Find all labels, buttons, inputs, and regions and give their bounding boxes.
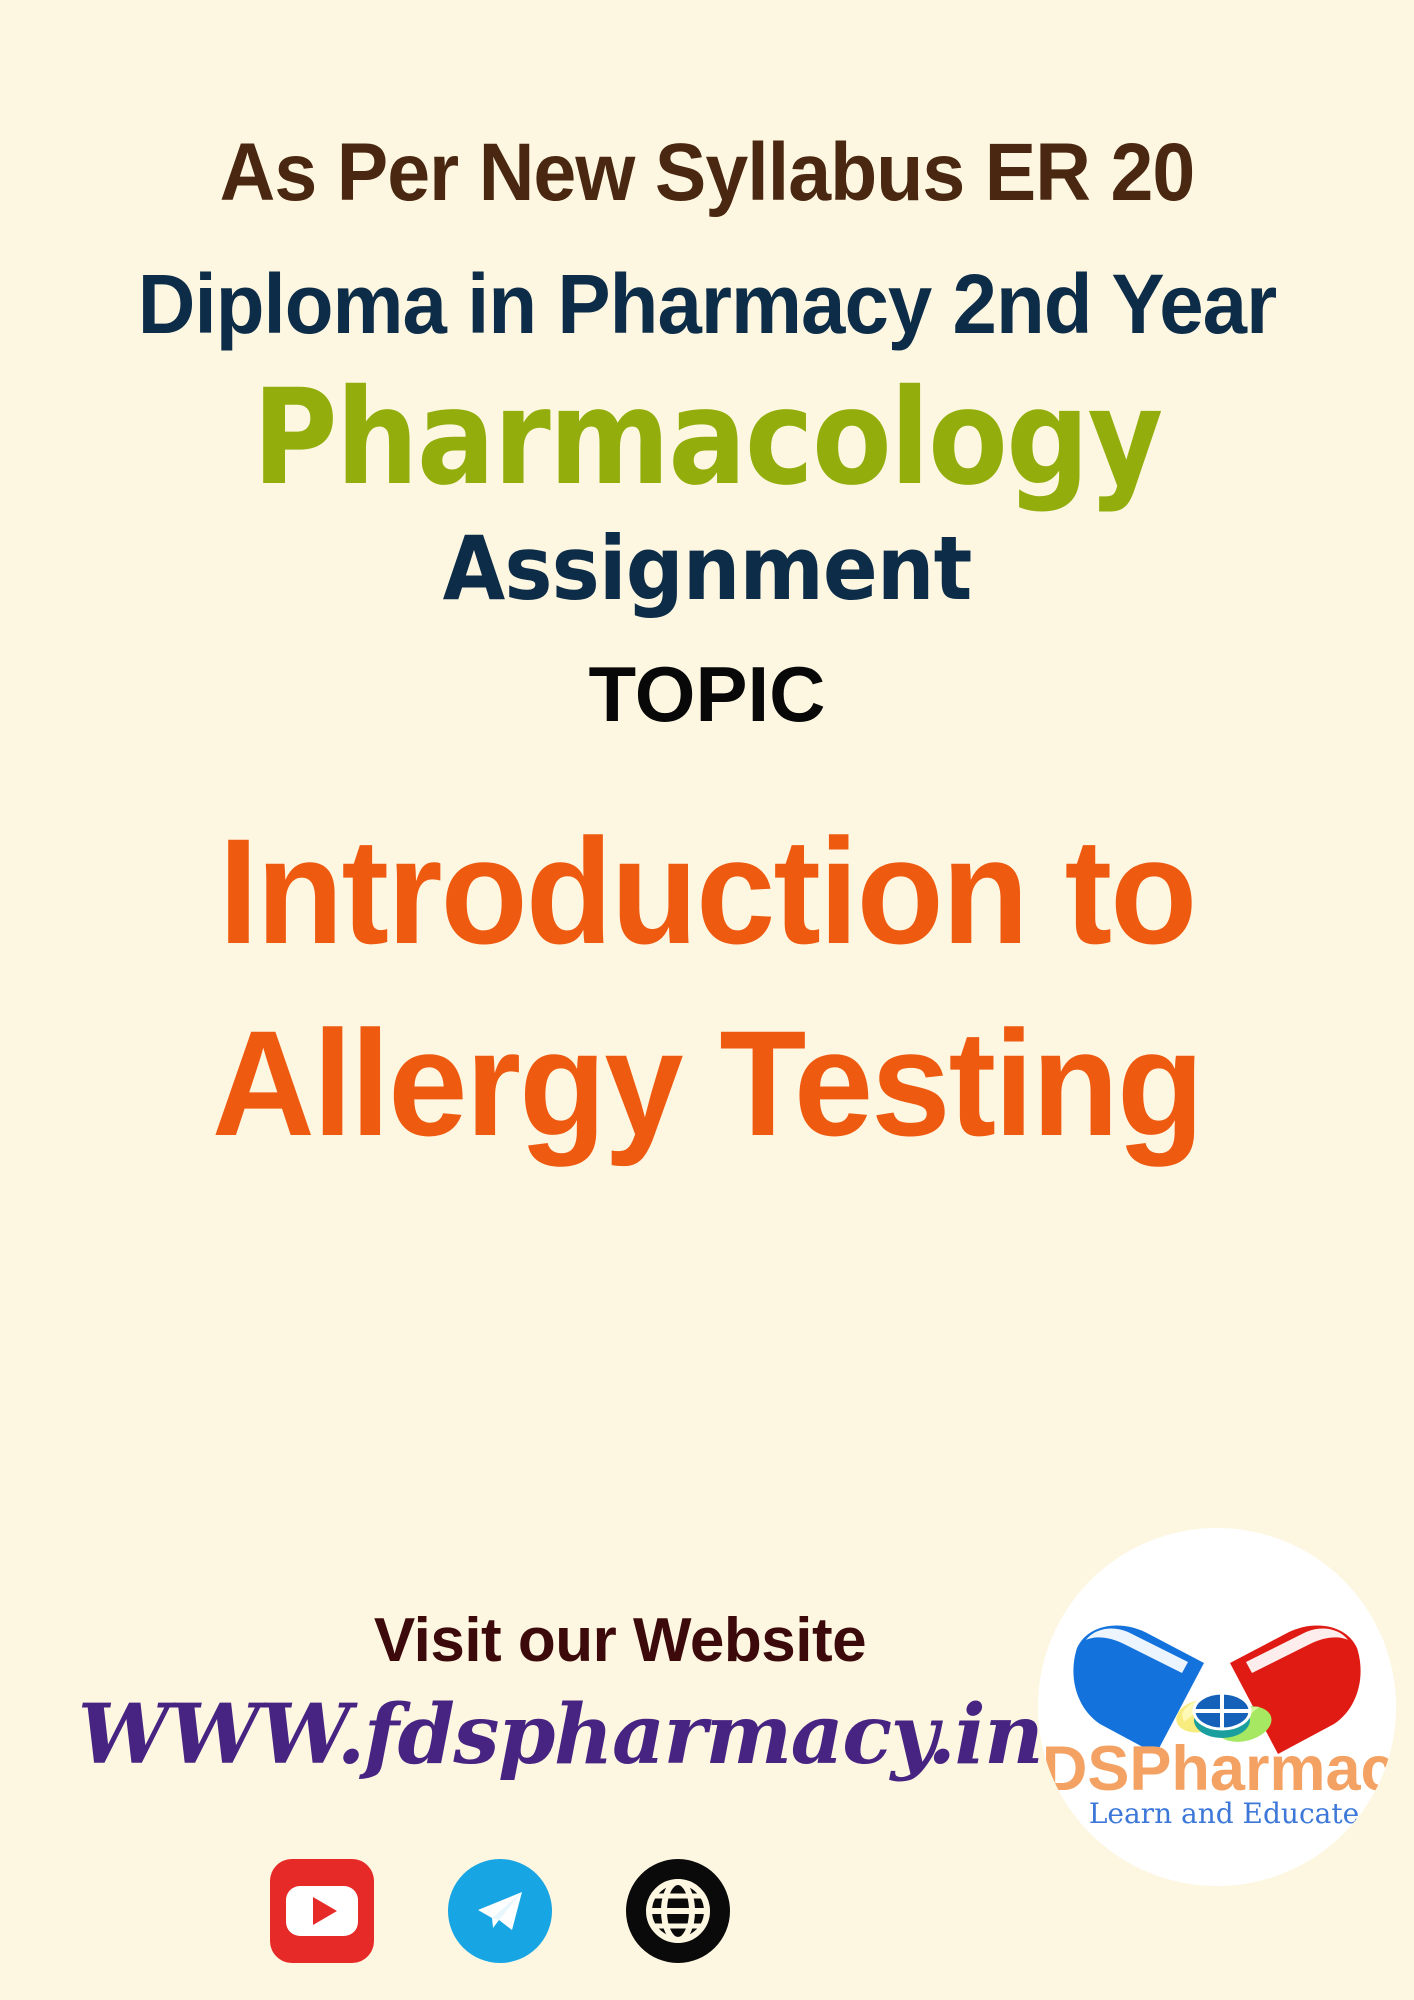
social-links-row xyxy=(0,1858,1000,1964)
youtube-icon[interactable] xyxy=(270,1859,374,1963)
course-line: Diploma in Pharmacy 2nd Year xyxy=(35,262,1378,346)
play-triangle-icon xyxy=(313,1897,337,1925)
subject-title: Pharmacology xyxy=(85,372,1329,504)
visit-website-text: Visit our Website xyxy=(300,1610,940,1672)
poster-canvas: As Per New Syllabus ER 20 Diploma in Pha… xyxy=(0,0,1414,2000)
logo-brand-name: FDSPharmacy xyxy=(1038,1734,1396,1804)
main-title-line-1: Introduction to xyxy=(35,795,1378,987)
main-title-line-2: Allergy Testing xyxy=(35,987,1378,1179)
youtube-link[interactable] xyxy=(269,1858,375,1964)
main-title: Introduction to Allergy Testing xyxy=(35,795,1378,1179)
fdspharmacy-logo: FDSPharmacy Learn and Educate xyxy=(1038,1528,1396,1886)
youtube-icon-body xyxy=(286,1886,358,1936)
logo-tagline: Learn and Educate xyxy=(1089,1797,1359,1830)
globe-icon[interactable] xyxy=(626,1859,730,1963)
website-url[interactable]: WWW.fdspharmacy.in xyxy=(60,1694,1060,1776)
globe-glyph-icon xyxy=(641,1874,715,1948)
website-link[interactable] xyxy=(625,1858,731,1964)
paper-plane-icon xyxy=(469,1880,531,1942)
topic-label: TOPIC xyxy=(0,655,1414,733)
syllabus-line: As Per New Syllabus ER 20 xyxy=(42,132,1371,214)
document-type: Assignment xyxy=(57,525,1358,613)
telegram-link[interactable] xyxy=(447,1858,553,1964)
telegram-icon[interactable] xyxy=(448,1859,552,1963)
